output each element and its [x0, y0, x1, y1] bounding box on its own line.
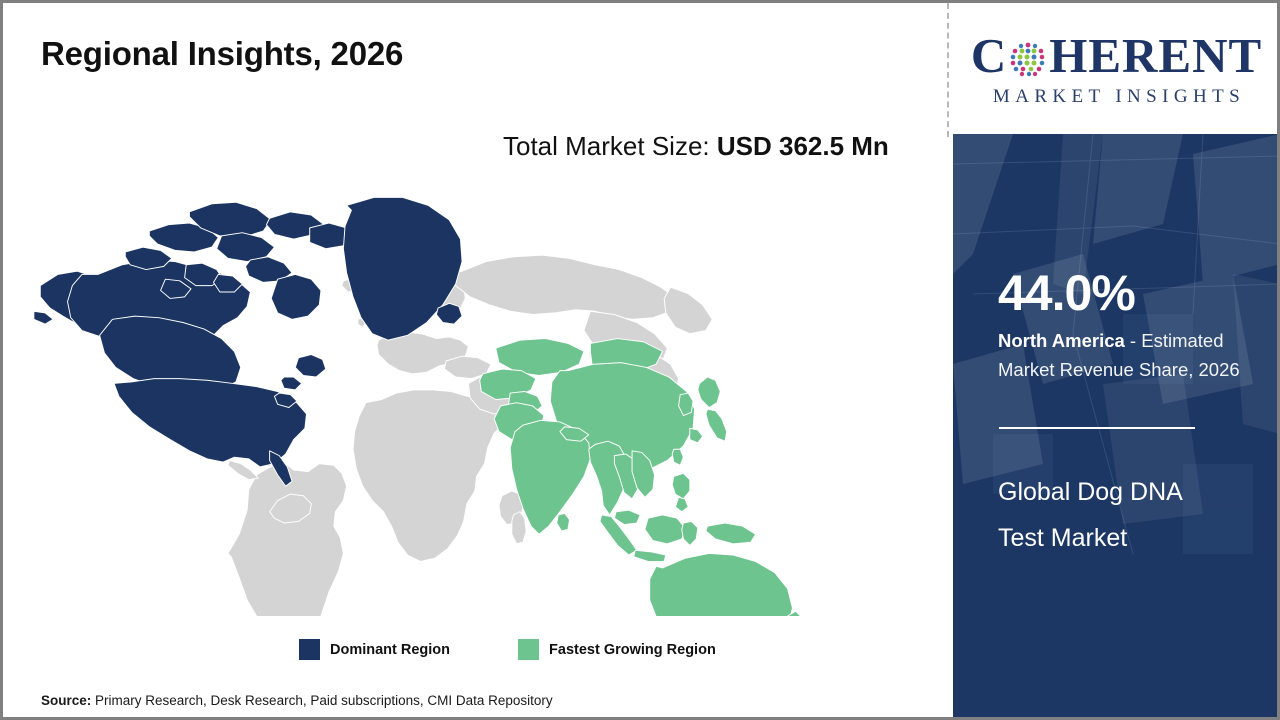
map-legend: Dominant Region Fastest Growing Region: [299, 639, 716, 660]
legend-label-dominant: Dominant Region: [330, 642, 450, 658]
page-title: Regional Insights, 2026: [41, 35, 403, 73]
market-name: Global Dog DNA Test Market: [998, 469, 1198, 562]
square-swatch-icon: [518, 639, 539, 660]
stat-panel: 44.0% North America - Estimated Market R…: [953, 134, 1280, 717]
source-note: Source: Primary Research, Desk Research,…: [41, 693, 553, 708]
logo-word-rest: HERENT: [1049, 31, 1262, 80]
total-market-size: Total Market Size: USD 362.5 Mn: [503, 127, 913, 166]
left-content-pane: Regional Insights, 2026 Total Market Siz…: [3, 3, 948, 717]
source-text: Primary Research, Desk Research, Paid su…: [91, 693, 552, 708]
stat-value: 44.0%: [998, 268, 1135, 318]
square-swatch-icon: [299, 639, 320, 660]
logo-letter-c: C: [971, 31, 1007, 80]
vertical-dashed-divider: [947, 3, 949, 137]
panel-divider-rule: [999, 427, 1195, 429]
globe-dots-icon: [1008, 39, 1048, 79]
world-map-svg: [29, 191, 839, 616]
legend-item-fastest-growing: Fastest Growing Region: [518, 639, 716, 660]
world-map: [29, 191, 839, 616]
map-region-fastest-growing: [480, 339, 806, 616]
legend-label-fastest-growing: Fastest Growing Region: [549, 642, 716, 658]
regional-insights-infographic: Regional Insights, 2026 Total Market Siz…: [0, 0, 1280, 720]
stat-description: North America - Estimated Market Revenue…: [998, 326, 1266, 384]
market-size-label: Total Market Size:: [503, 131, 717, 161]
brand-logo: C: [953, 3, 1280, 134]
stat-region-name: North America: [998, 330, 1125, 351]
logo-subtitle: MARKET INSIGHTS: [988, 86, 1245, 108]
market-size-value: USD 362.5 Mn: [717, 131, 889, 161]
legend-item-dominant: Dominant Region: [299, 639, 450, 660]
logo-wordmark: C: [971, 30, 1262, 82]
stat-panel-content: 44.0% North America - Estimated Market R…: [998, 134, 1262, 717]
source-label: Source:: [41, 693, 91, 708]
